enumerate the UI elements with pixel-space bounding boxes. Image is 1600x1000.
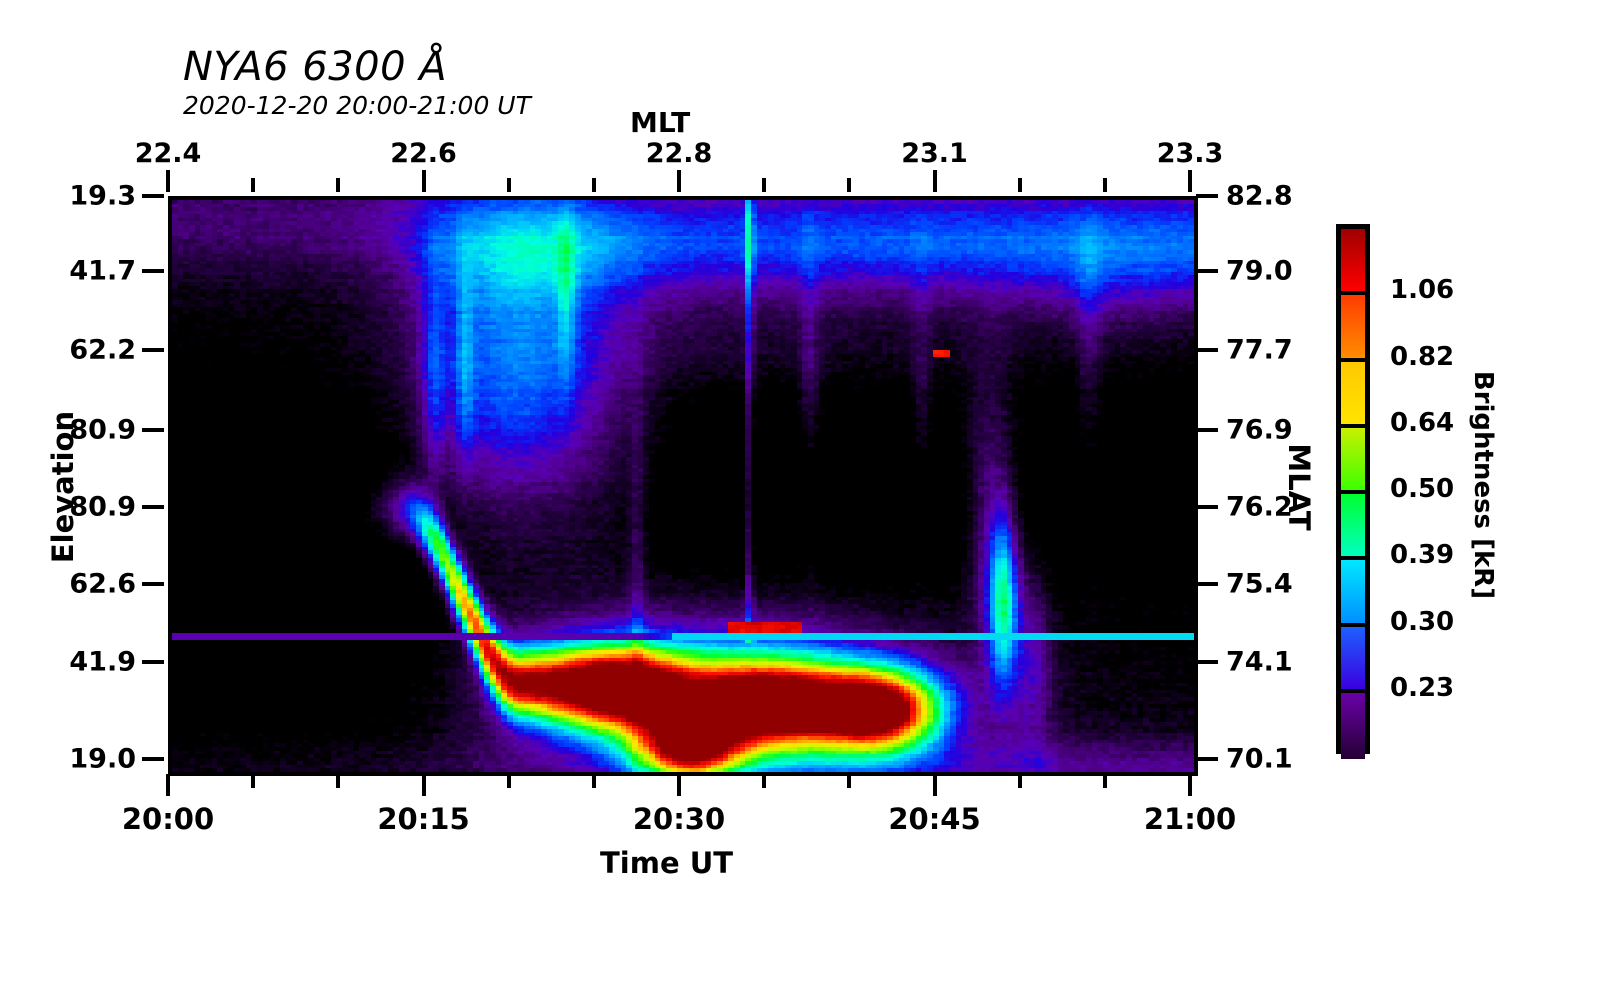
tick-mlat-1: [1196, 269, 1218, 273]
colorbar-band-0: [1341, 229, 1365, 295]
tick-label-elevation-2: 62.2: [69, 334, 136, 365]
tick-mlt-major-1: [422, 170, 426, 192]
tick-mlat-4: [1196, 505, 1218, 509]
tick-elevation-3: [142, 428, 164, 432]
bottom-axis-title: Time UT: [600, 846, 733, 880]
tick-label-mlt-1: 22.6: [390, 138, 457, 169]
tick-label-elevation-6: 41.9: [69, 646, 136, 677]
tick-time-major-3: [933, 774, 937, 796]
tick-label-mlt-3: 23.1: [901, 138, 968, 169]
tick-mlt-major-2: [677, 170, 681, 192]
tick-label-time-0: 20:00: [122, 802, 214, 836]
colorbar-label-5: 0.30: [1390, 607, 1454, 637]
tick-time-minor-3-1: [1018, 774, 1022, 788]
tick-elevation-6: [142, 660, 164, 664]
tick-label-mlat-2: 77.7: [1226, 334, 1293, 365]
tick-label-mlt-4: 23.3: [1157, 138, 1224, 169]
tick-mlat-6: [1196, 660, 1218, 664]
tick-label-time-2: 20:30: [633, 802, 725, 836]
colorbar-band-1: [1341, 295, 1365, 361]
tick-elevation-2: [142, 348, 164, 352]
figure-subtitle: 2020-12-20 20:00-21:00 UT: [183, 91, 531, 120]
tick-mlt-minor-1-1: [507, 178, 511, 192]
tick-label-mlt-2: 22.8: [646, 138, 713, 169]
top-axis-title: MLT: [630, 106, 690, 139]
colorbar-label-4: 0.39: [1390, 540, 1454, 570]
tick-label-mlat-1: 79.0: [1226, 255, 1293, 286]
tick-elevation-4: [142, 505, 164, 509]
tick-label-mlat-6: 74.1: [1226, 646, 1293, 677]
tick-mlat-3: [1196, 428, 1218, 432]
tick-label-mlt-0: 22.4: [135, 138, 202, 169]
tick-elevation-0: [142, 194, 164, 198]
tick-label-elevation-1: 41.7: [69, 255, 136, 286]
tick-mlat-7: [1196, 757, 1218, 761]
tick-time-minor-0-1: [251, 774, 255, 788]
colorbar-label-6: 0.23: [1390, 673, 1454, 703]
tick-label-elevation-5: 62.6: [69, 569, 136, 600]
colorbar: [1336, 224, 1370, 754]
tick-time-major-0: [166, 774, 170, 796]
tick-label-time-4: 21:00: [1144, 802, 1236, 836]
tick-label-mlat-7: 70.1: [1226, 744, 1293, 775]
tick-mlt-minor-2-2: [847, 178, 851, 192]
tick-mlt-major-3: [933, 170, 937, 192]
colorbar-label-1: 0.82: [1390, 342, 1454, 372]
tick-mlat-2: [1196, 348, 1218, 352]
tick-label-elevation-7: 19.0: [69, 744, 136, 775]
tick-time-major-2: [677, 774, 681, 796]
colorbar-label-3: 0.50: [1390, 474, 1454, 504]
tick-label-mlat-4: 76.2: [1226, 491, 1293, 522]
tick-label-mlat-3: 76.9: [1226, 414, 1293, 445]
tick-mlt-minor-2-1: [762, 178, 766, 192]
colorbar-band-5: [1341, 560, 1365, 626]
tick-mlat-5: [1196, 582, 1218, 586]
keogram-figure: NYA6 6300 Å 2020-12-20 20:00-21:00 UT ML…: [0, 0, 1600, 1000]
tick-mlat-0: [1196, 194, 1218, 198]
colorbar-band-6: [1341, 627, 1365, 693]
tick-time-minor-2-1: [762, 774, 766, 788]
tick-elevation-7: [142, 757, 164, 761]
tick-mlt-minor-1-2: [592, 178, 596, 192]
tick-mlt-major-4: [1188, 170, 1192, 192]
colorbar-band-7: [1341, 693, 1365, 759]
figure-title: NYA6 6300 Å: [183, 44, 447, 90]
tick-label-elevation-3: 80.9: [69, 414, 136, 445]
tick-label-mlat-0: 82.8: [1226, 181, 1293, 212]
colorbar-band-4: [1341, 494, 1365, 560]
tick-time-minor-3-2: [1103, 774, 1107, 788]
colorbar-band-2: [1341, 362, 1365, 428]
colorbar-band-3: [1341, 428, 1365, 494]
tick-time-major-1: [422, 774, 426, 796]
tick-label-time-1: 20:15: [377, 802, 469, 836]
keogram-image: [172, 200, 1194, 772]
tick-label-mlat-5: 75.4: [1226, 569, 1293, 600]
tick-time-minor-1-2: [592, 774, 596, 788]
tick-time-major-4: [1188, 774, 1192, 796]
tick-mlt-minor-3-2: [1103, 178, 1107, 192]
tick-time-minor-1-1: [507, 774, 511, 788]
keogram-plot-area: [168, 196, 1198, 776]
colorbar-label-0: 1.06: [1390, 275, 1454, 305]
tick-mlt-minor-0-1: [251, 178, 255, 192]
colorbar-axis-title: Brightness [kR]: [1468, 365, 1498, 605]
tick-mlt-major-0: [166, 170, 170, 192]
tick-elevation-5: [142, 582, 164, 586]
colorbar-label-2: 0.64: [1390, 408, 1454, 438]
tick-time-minor-0-2: [336, 774, 340, 788]
tick-label-time-3: 20:45: [888, 802, 980, 836]
tick-time-minor-2-2: [847, 774, 851, 788]
tick-label-elevation-0: 19.3: [69, 181, 136, 212]
tick-mlt-minor-3-1: [1018, 178, 1022, 192]
tick-mlt-minor-0-2: [336, 178, 340, 192]
tick-label-elevation-4: 80.9: [69, 491, 136, 522]
tick-elevation-1: [142, 269, 164, 273]
